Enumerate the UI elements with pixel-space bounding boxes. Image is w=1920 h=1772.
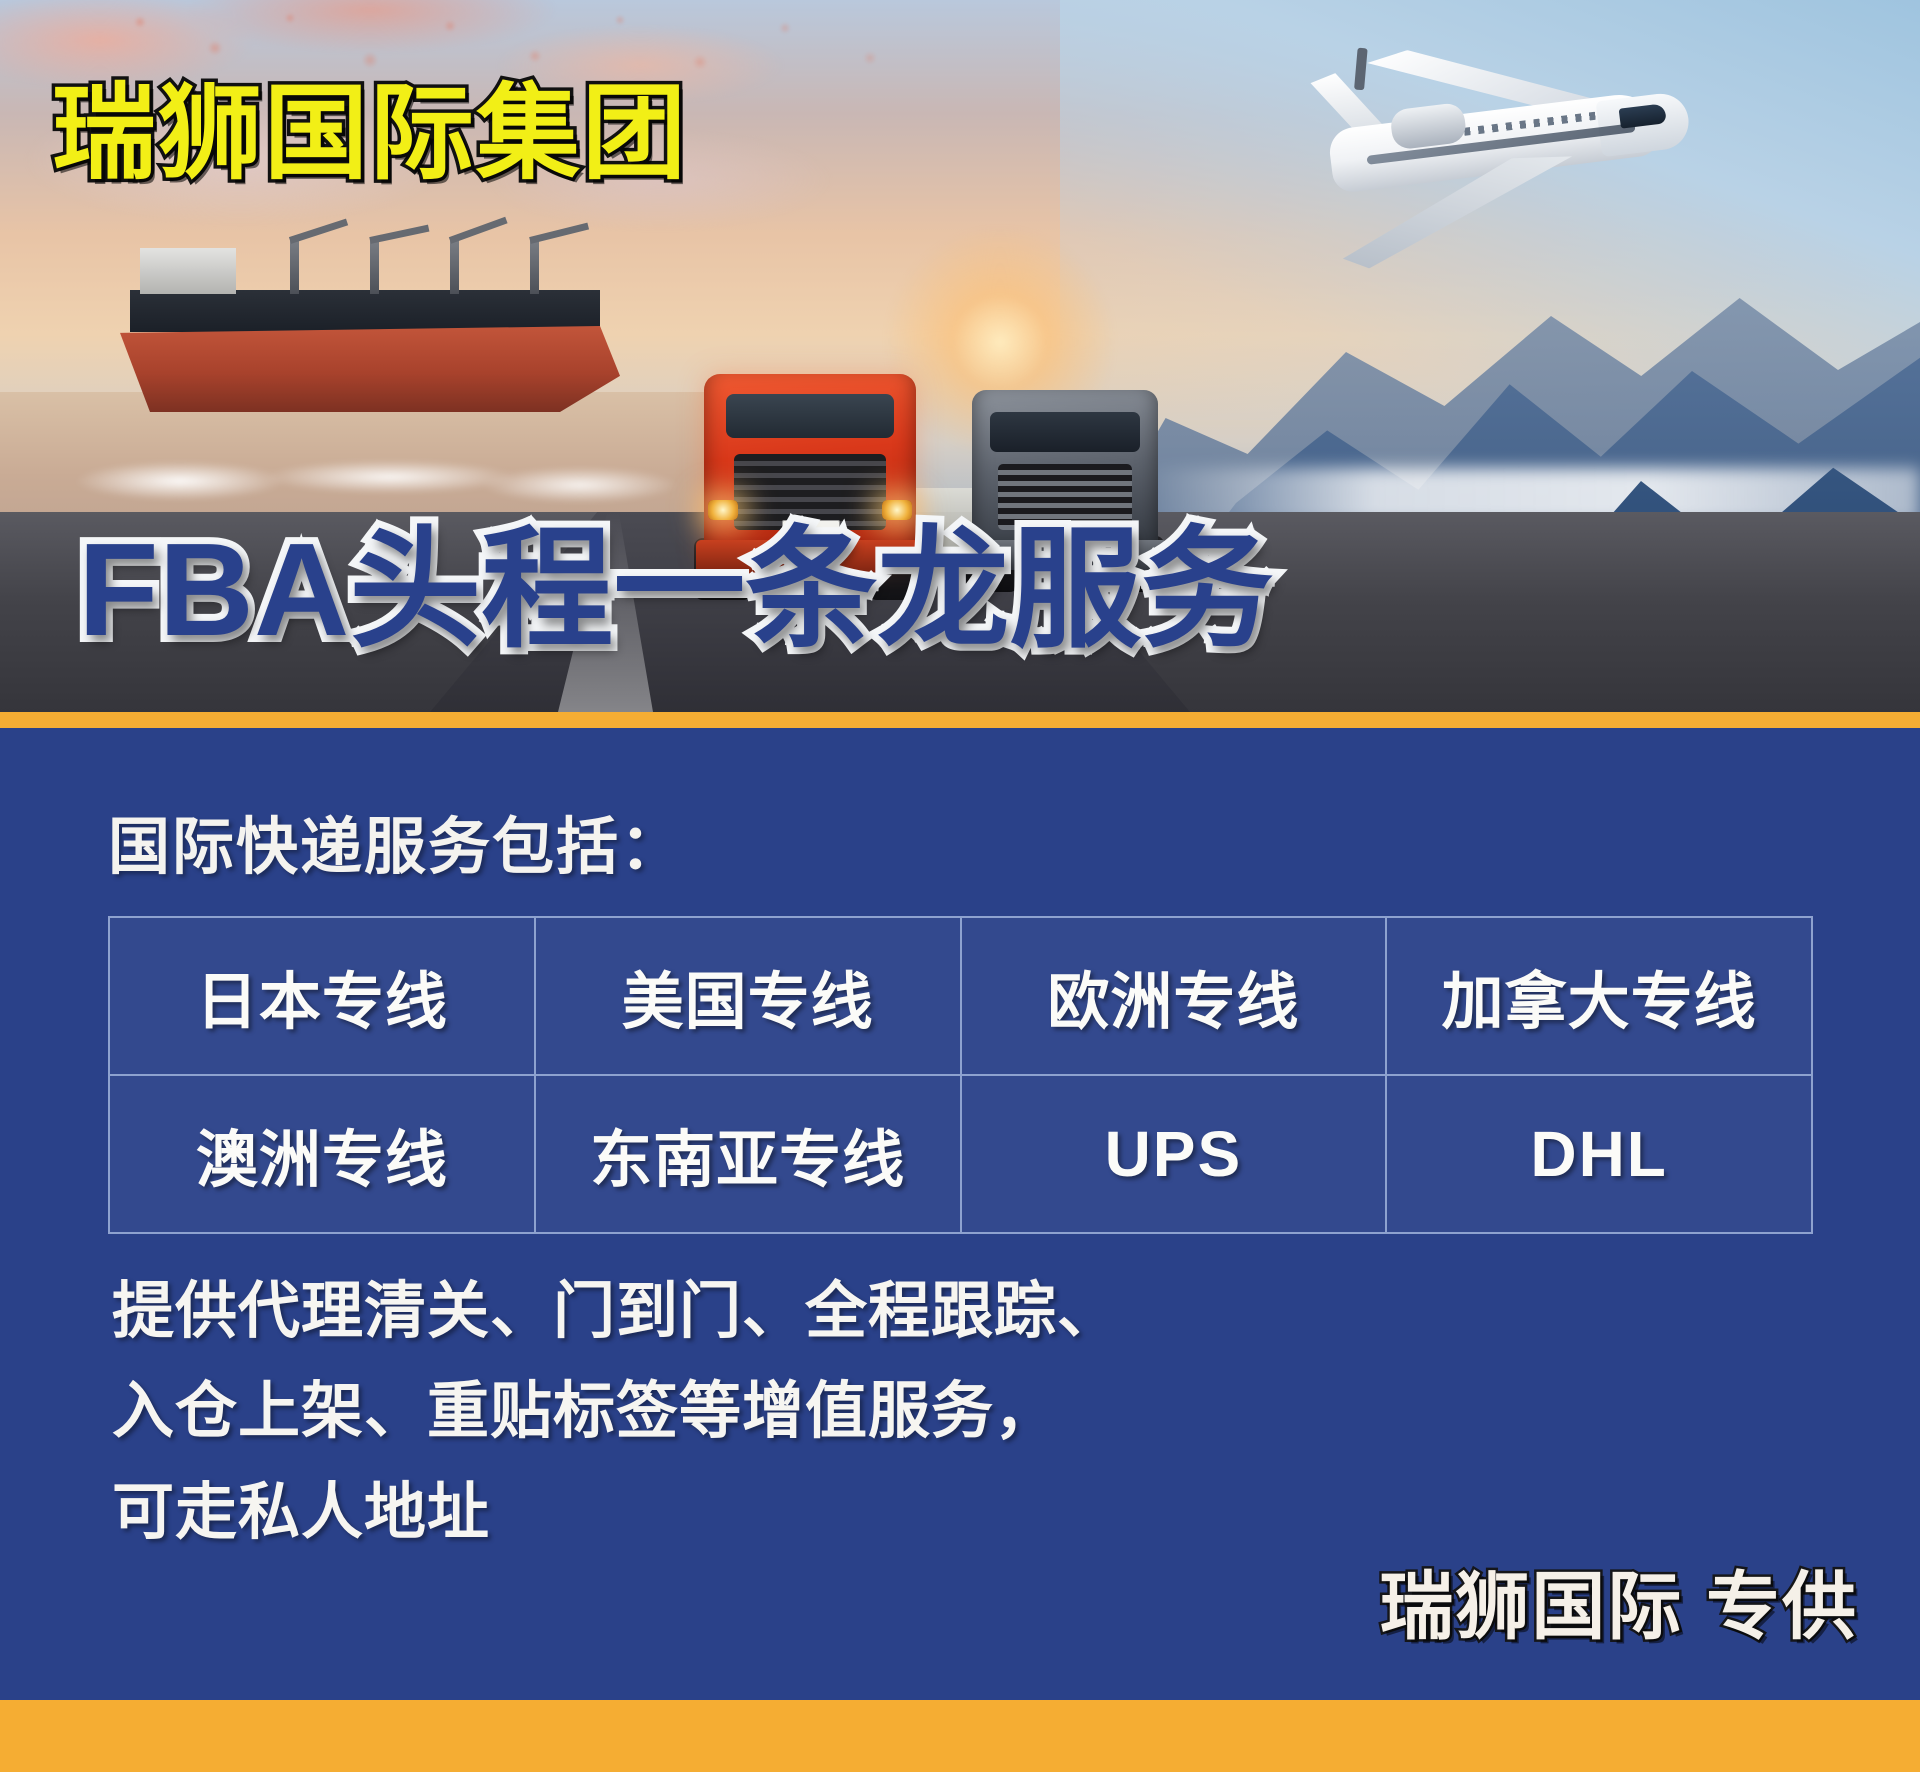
description-line-2: 入仓上架、重贴标签等增值服务，	[112, 1362, 1120, 1462]
section-heading: 国际快递服务包括：	[108, 796, 684, 886]
sea-foam	[60, 447, 680, 517]
cargo-ship-icon	[120, 242, 640, 412]
promo-banner: 瑞狮国际集团 FBA头程一条龙服务 国际快递服务包括： 日本专线 美国专线 欧洲…	[0, 0, 1920, 1772]
table-row: 澳洲专线 东南亚专线 UPS DHL	[109, 1075, 1812, 1233]
service-cell-dhl[interactable]: DHL	[1386, 1075, 1812, 1233]
service-cell-southeast-asia[interactable]: 东南亚专线	[535, 1075, 961, 1233]
footer-brand: 瑞狮国际 专供	[1379, 1547, 1858, 1654]
service-table: 日本专线 美国专线 欧洲专线 加拿大专线 澳洲专线 东南亚专线 UPS DHL	[108, 916, 1813, 1234]
table-row: 日本专线 美国专线 欧洲专线 加拿大专线	[109, 917, 1812, 1075]
hero-photo: 瑞狮国际集团 FBA头程一条龙服务	[0, 0, 1920, 712]
page-title: FBA头程一条龙服务	[78, 524, 1273, 656]
service-cell-usa[interactable]: 美国专线	[535, 917, 961, 1075]
description-line-1: 提供代理清关、门到门、全程跟踪、	[112, 1262, 1120, 1362]
divider-gold-bottom	[0, 1700, 1920, 1772]
service-description: 提供代理清关、门到门、全程跟踪、 入仓上架、重贴标签等增值服务， 可走私人地址	[112, 1262, 1120, 1563]
divider-gold-top	[0, 712, 1920, 728]
service-cell-ups[interactable]: UPS	[961, 1075, 1387, 1233]
company-logo-text: 瑞狮国际集团	[52, 82, 688, 186]
service-cell-canada[interactable]: 加拿大专线	[1386, 917, 1812, 1075]
description-line-3: 可走私人地址	[112, 1463, 1120, 1563]
service-cell-japan[interactable]: 日本专线	[109, 917, 535, 1075]
info-panel: 国际快递服务包括： 日本专线 美国专线 欧洲专线 加拿大专线 澳洲专线 东南亚专…	[0, 728, 1920, 1700]
service-cell-australia[interactable]: 澳洲专线	[109, 1075, 535, 1233]
service-cell-europe[interactable]: 欧洲专线	[961, 917, 1387, 1075]
